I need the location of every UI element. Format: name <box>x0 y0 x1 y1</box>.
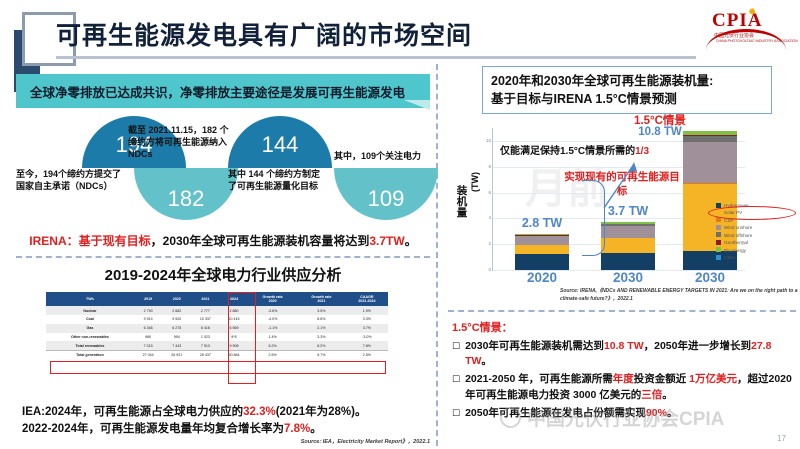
table-cell: 26 921 <box>162 351 191 360</box>
legend-highlight-solar-pv <box>708 206 796 220</box>
irena-prefix: IRENA： <box>29 234 78 248</box>
bullet-text-run: 年度 <box>613 373 634 385</box>
chart-y-axis-label: 装机量 <box>455 186 469 219</box>
iea-line1-red: 32.3% <box>243 406 276 418</box>
table-cell: 7 443 <box>162 341 191 350</box>
page-title: 可再生能源发电具有广阔的市场空间 <box>56 16 472 52</box>
bullet-item: ☐2021-2050 年，可再生能源所需年度投资金额近 1万亿美元，超过2020… <box>452 372 796 404</box>
table-cell: -4.0% <box>248 315 297 324</box>
legend-swatch <box>716 255 721 260</box>
table-row: Coal9 9149 52010 33710 415-4.0%8.6%3.3% <box>46 315 388 324</box>
chart-x-tick: 2030 <box>593 270 663 285</box>
legend-item-wind-offshore: Wind offshore <box>716 232 752 239</box>
table-cell: 2.5% <box>248 351 297 360</box>
table-cell: 3.3% <box>297 333 346 342</box>
slide: 可再生能源发电具有广阔的市场空间 ✹ CPIA 中国光伏行业协会 CHINA P… <box>0 0 800 449</box>
bullet-item: ☐2030年可再生能源装机需达到10.8 TW，2050年进一步增长到27.8 … <box>452 339 796 371</box>
table-cell: 7.8% <box>346 341 388 350</box>
table-col-header: Growth rate 2020 <box>248 292 297 306</box>
chart-annotation-1-red: 1/3 <box>635 146 649 157</box>
bullet-checkbox-icon: ☐ <box>452 339 460 371</box>
legend-item-wind-onshore: Wind onshore <box>716 224 752 231</box>
table-highlight-row <box>50 361 386 374</box>
irena-mid: ，2030年全球可再生能源装机容量将达到 <box>151 234 370 248</box>
table-cell: 2 880 <box>220 306 249 315</box>
table-cell: 2.1% <box>297 324 346 333</box>
table-cell: 6 569 <box>220 324 249 333</box>
table-cell: -3.0% <box>346 333 388 342</box>
table-cell: 3.7% <box>346 324 388 333</box>
chart-bar-segment-hydropower <box>515 254 569 270</box>
chart-bar-total-label: 2.8 TW <box>507 216 577 230</box>
table-cell: 2.5% <box>346 351 388 360</box>
table-row: Nuclear2 7902 6822 7772 880-3.6%3.5%1.9% <box>46 306 388 315</box>
panel-divider <box>436 64 438 446</box>
chart-y-tick: 8 <box>481 164 491 169</box>
table-col-header: Growth rate 2021 <box>297 292 346 306</box>
venn-caption-182: 截至 2021.11.15，182 个缔约方将可再生能源纳入NDCs <box>128 124 232 160</box>
chart-bar-segment-wind-onshore <box>601 226 655 238</box>
page-number: 17 <box>777 434 786 443</box>
table-cell: 2 777 <box>191 306 220 315</box>
irena-suffix: 。 <box>405 234 417 248</box>
legend-item-bio-energy: Bio energy <box>716 247 752 254</box>
left-divider <box>16 256 430 258</box>
table-col-header: TWh <box>46 292 134 306</box>
venn-semi-182: 182 <box>134 168 238 220</box>
table-row-label: Other non-renewables <box>46 333 134 342</box>
table-header-row: TWh2019202020212024Growth rate 2020Growt… <box>46 292 388 306</box>
table-cell: 9*5 <box>220 333 249 342</box>
chart-x-tick: 2020 <box>507 270 577 285</box>
supply-table: TWh2019202020212024Growth rate 2020Growt… <box>46 292 388 360</box>
bullet-text-run: 1万亿美元 <box>689 373 737 385</box>
table-col-header: 2019 <box>134 292 163 306</box>
table-cell: 6 346 <box>134 324 163 333</box>
chart-annotation-1: 仅能满足保持1.5°C情景所需的1/3 <box>500 142 649 157</box>
iea-line2-b: 。 <box>310 423 322 435</box>
table-cell: 28 437 <box>191 351 220 360</box>
table-col-header: 2024 <box>220 292 249 306</box>
chart-bar-segment-solar-pv <box>601 238 655 252</box>
bullet-text-run: 10.8 TW <box>604 340 644 352</box>
table-cell: 9 908 <box>220 341 249 350</box>
left-section-title: 2019-2024年全球电力行业供应分析 <box>16 264 430 285</box>
chart-y-tick: 6 <box>481 190 491 195</box>
table-row: Other non-renewables9809941 0239*51.4%3.… <box>46 333 388 342</box>
right-title-line1: 2020年和2030年全球可再生能源装机量: <box>491 72 763 90</box>
venn-caption-109: 其中，109个关注电力 <box>334 150 430 162</box>
chart-bar-segment-wind-onshore <box>515 236 569 245</box>
table-cell: -1.1% <box>248 324 297 333</box>
chart-bar <box>515 234 569 270</box>
table-cell: 10 415 <box>220 315 249 324</box>
chart-bar <box>601 222 655 270</box>
table-cell: 9 914 <box>134 315 163 324</box>
table-cell: 6.2% <box>248 341 297 350</box>
table-row-label: Total renewables <box>46 341 134 350</box>
table-row-label: Total generation <box>46 351 134 360</box>
chart-y-tick: 10 <box>481 138 491 143</box>
venn-num-144: 144 <box>228 132 332 158</box>
chart-y-tick: 4 <box>481 215 491 220</box>
table-cell: 6.2% <box>297 341 346 350</box>
table-row-label: Gas <box>46 324 134 333</box>
iea-line2-red: 7.8% <box>284 423 310 435</box>
table-col-header: CAAGR 2022-2024 <box>346 292 388 306</box>
bullet-text-run: 2030年可再生能源装机需达到 <box>465 340 604 352</box>
logo-cn-name: 中国光伏行业协会 <box>714 32 754 39</box>
chart-y-tick: 2 <box>481 241 491 246</box>
iea-line2-a: 2022-2024年，可再生能源发电量年均复合增长率为 <box>22 423 284 435</box>
table-cell: 30 684 <box>220 351 249 360</box>
table-cell: 2 790 <box>134 306 163 315</box>
irena-statement: IRENA：基于现有目标，2030年全球可再生能源装机容量将达到3.7TW。 <box>16 232 430 249</box>
legend-swatch <box>716 203 721 208</box>
table-cell: 1.4% <box>248 333 297 342</box>
table-row: Total generation27 04426 92128 43730 684… <box>46 351 388 360</box>
watermark: 中国光伏行业协会CPIA <box>500 404 800 431</box>
bullets-heading: 1.5°C情景： <box>452 320 796 337</box>
venn-caption-144: 其中 144 个缔约方制定了可再生能源量化目标 <box>228 168 328 192</box>
table-cell: 8.6% <box>297 315 346 324</box>
table-cell: 9 520 <box>162 315 191 324</box>
venn-num-182: 182 <box>134 186 238 212</box>
table-cell: 3.3% <box>346 315 388 324</box>
chart-annotation-1-text: 仅能满足保持1.5°C情景所需的 <box>500 146 635 157</box>
legend-swatch <box>716 247 721 252</box>
legend-swatch <box>716 232 721 237</box>
table-cell: 994 <box>162 333 191 342</box>
chart-bar-segment-hydropower <box>601 253 655 270</box>
table-cell: 5.7% <box>297 351 346 360</box>
venn-semi-144: 144 <box>228 116 332 168</box>
header-rule <box>56 56 696 59</box>
table-cell: 7 913 <box>191 341 220 350</box>
iea-line1-a: IEA:2024年，可再生能源占全球电力供应的 <box>22 406 243 418</box>
bullet-checkbox-icon: ☐ <box>452 372 460 404</box>
table-cell: 3.5% <box>297 306 346 315</box>
table-cell: 1.9% <box>346 306 388 315</box>
chart-bar-segment-solar-pv <box>515 245 569 254</box>
iea-line1-b: (2021年为28%)。 <box>276 406 367 418</box>
table-cell: 7 015 <box>134 341 163 350</box>
bullet-text: 2030年可再生能源装机需达到10.8 TW，2050年进一步增长到27.8 T… <box>465 339 796 371</box>
table-cell: 2 682 <box>162 306 191 315</box>
chart-arrow-icon <box>600 160 640 210</box>
iea-statement: IEA:2024年，可再生能源占全球电力供应的32.3%(2021年为28%)。… <box>22 404 432 439</box>
legend-item-other: Other <box>716 254 752 261</box>
cpia-logo: ✹ CPIA 中国光伏行业协会 CHINA PHOTOVOLTAIC INDUS… <box>704 6 790 46</box>
table-cell: 1 023 <box>191 333 220 342</box>
bullet-text-run: 。 <box>662 389 673 401</box>
table-cell: -3.6% <box>248 306 297 315</box>
right-title-line2: 基于目标与IRENA 1.5°C情景预测 <box>491 90 763 108</box>
watermark-text: 中国光伏行业协会CPIA <box>527 409 724 430</box>
bullet-text-run: 。 <box>481 355 492 367</box>
legend-item-geothermal: Geothermal <box>716 239 752 246</box>
table-row: Gas6 3466 2756 4166 569-1.1%2.1%3.7% <box>46 324 388 333</box>
chart-bar-segment-wind-onshore <box>683 142 737 183</box>
table-cell: 980 <box>134 333 163 342</box>
chart-source: Source: IRENA,《NDCs AND RENEWABLE ENERGY… <box>560 288 800 303</box>
bullet-text-run: 投资金额近 <box>634 373 689 385</box>
table-cell: 27 044 <box>134 351 163 360</box>
bullet-text-run: 2021-2050 年，可再生能源所需 <box>465 373 613 385</box>
table-cell: 6 275 <box>162 324 191 333</box>
irena-red-2: 3.7TW <box>369 234 404 248</box>
right-title-box: 2020年和2030年全球可再生能源装机量: 基于目标与IRENA 1.5°C情… <box>482 66 772 114</box>
table-col-header: 2020 <box>162 292 191 306</box>
chart-brace <box>582 180 605 256</box>
venn-num-109: 109 <box>334 186 438 212</box>
bullet-text: 2021-2050 年，可再生能源所需年度投资金额近 1万亿美元，超过2020年… <box>465 372 796 404</box>
irena-red-1: 基于现有目标 <box>79 234 151 248</box>
bullet-text-run: 三倍 <box>641 389 662 401</box>
chart-y-axis-unit: (TW) <box>470 172 480 192</box>
right-divider <box>448 310 796 312</box>
legend-swatch <box>716 217 721 222</box>
legend-swatch <box>716 240 721 245</box>
table-row-label: Nuclear <box>46 306 134 315</box>
chart-x-tick: 2030 <box>675 270 745 285</box>
legend-swatch <box>716 225 721 230</box>
qq-icon <box>500 407 521 428</box>
table-row-label: Coal <box>46 315 134 324</box>
chart-y-tick: 0 <box>481 267 491 272</box>
venn-caption-194: 至今，194个缔约方提交了国家自主承诺（NDCs） <box>16 168 124 192</box>
logo-en-name: CHINA PHOTOVOLTAIC INDUSTRY ASSOCIATION <box>716 39 798 43</box>
table-col-header: 2021 <box>191 292 220 306</box>
table-cell: 10 337 <box>191 315 220 324</box>
table-row: Total renewables7 0157 4437 9139 9086.2%… <box>46 341 388 350</box>
bullet-checkbox-icon: ☐ <box>452 406 460 422</box>
table-cell: 6 416 <box>191 324 220 333</box>
iea-source: Source: IEA，Electricity Market Report》，2… <box>22 437 430 445</box>
left-banner-text: 全球净零排放已达成共识，净零排放主要途径是发展可再生能源发电 <box>30 82 430 101</box>
venn-infographic: 194 182 144 109 至今，194个缔约方提交了国家自主承诺（NDCs… <box>16 112 430 224</box>
venn-semi-109: 109 <box>334 168 438 220</box>
bullet-text-run: ，2050年进一步增长到 <box>644 340 751 352</box>
